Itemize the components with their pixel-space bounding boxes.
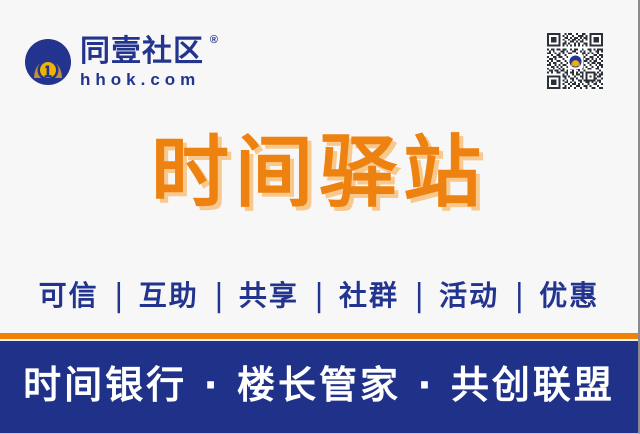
- poster-canvas: 同壹社区 ® hhok.com: [0, 0, 640, 434]
- keyword-separator: |: [401, 280, 437, 312]
- bottom-banner-text: 时间银行 · 楼长管家 · 共创联盟: [23, 361, 615, 409]
- qr-center-logo-icon: [568, 54, 583, 69]
- brand-name-cn: 同壹社区: [80, 36, 204, 68]
- keyword-item: 社群: [337, 278, 401, 314]
- brand-emblem-icon: [24, 38, 72, 86]
- brand-logo: 同壹社区 ® hhok.com: [24, 36, 204, 89]
- keyword-separator: |: [201, 280, 237, 312]
- bottom-banner: 时间银行 · 楼长管家 · 共创联盟: [0, 341, 638, 433]
- keyword-item: 互助: [137, 278, 201, 314]
- brand-domain: hhok.com: [80, 70, 204, 89]
- registered-mark-icon: ®: [210, 34, 218, 46]
- keyword-item: 可信: [37, 278, 101, 314]
- qr-code-icon[interactable]: [547, 33, 603, 89]
- keyword-separator: |: [101, 280, 137, 312]
- keyword-separator: |: [301, 280, 337, 312]
- main-title: 时间驿站: [0, 128, 638, 218]
- keyword-row: 可信 | 互助 | 共享 | 社群 | 活动 | 优惠: [0, 278, 638, 314]
- brand-wordmark: 同壹社区 ® hhok.com: [80, 36, 204, 89]
- keyword-item: 共享: [237, 278, 301, 314]
- keyword-item: 优惠: [537, 278, 601, 314]
- keyword-item: 活动: [437, 278, 501, 314]
- keyword-separator: |: [501, 280, 537, 312]
